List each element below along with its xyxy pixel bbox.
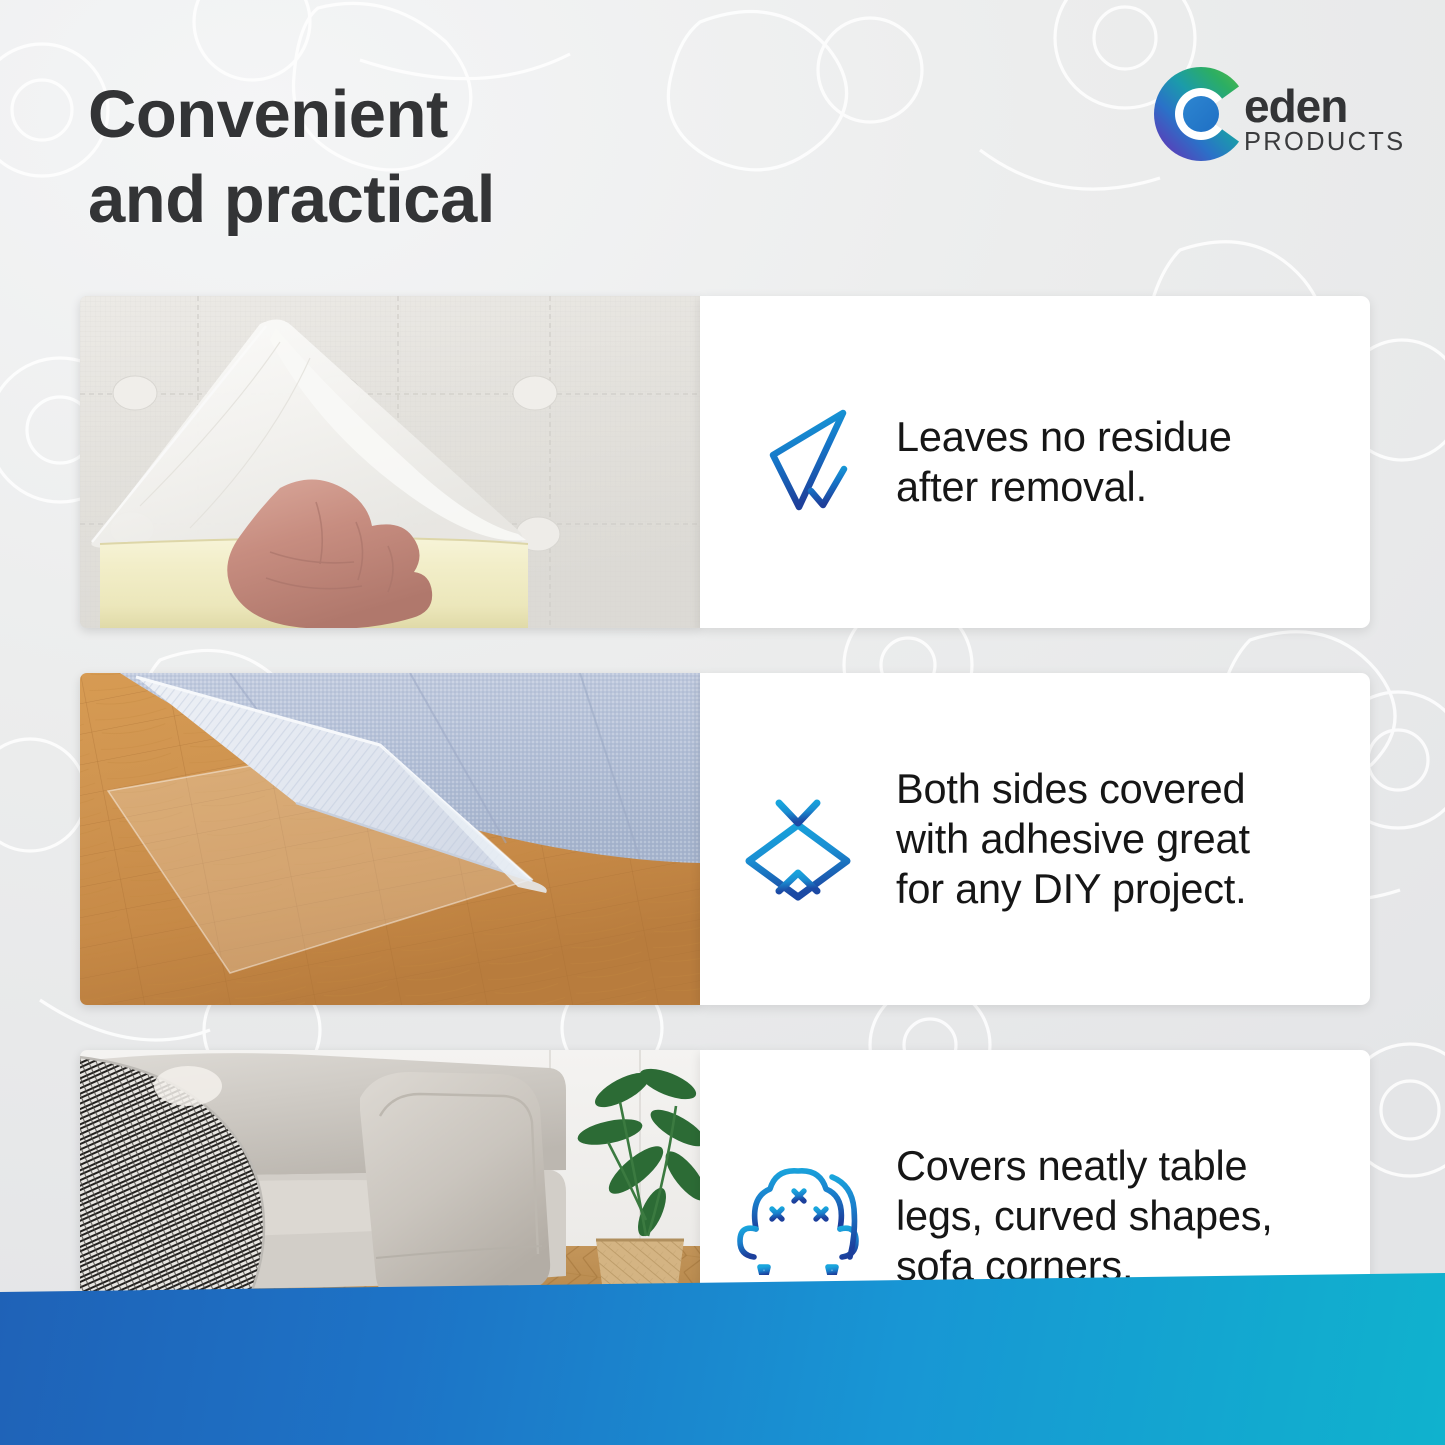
page-title: Convenient and practical	[88, 72, 788, 242]
logo-subtitle: PRODUCTS	[1244, 130, 1406, 156]
logo-name: eden	[1244, 85, 1406, 127]
feature-row-1: Leaves no residue after removal.	[80, 296, 1370, 628]
infographic-canvas: Convenient and practical	[0, 0, 1445, 1445]
feature-card-1: Leaves no residue after removal.	[700, 296, 1370, 628]
feature-text-2-line-3: for any DIY project.	[896, 864, 1250, 914]
peel-corner-check-icon	[700, 296, 896, 628]
feature-text-2-line-2: with adhesive great	[896, 814, 1250, 864]
header: Convenient and practical	[0, 0, 1445, 290]
logo-wordmark: eden PRODUCTS	[1244, 85, 1406, 156]
feature-text-3-line-2: legs, curved shapes,	[896, 1191, 1273, 1241]
feature-photo-rug-on-floor	[80, 673, 700, 1005]
double-sided-adhesive-arrows-icon	[700, 673, 896, 1005]
page-title-line-2: and practical	[88, 157, 788, 242]
feature-text-3: Covers neatly table legs, curved shapes,…	[896, 1141, 1295, 1291]
feature-text-1-line-2: after removal.	[896, 462, 1232, 512]
feature-text-1: Leaves no residue after removal.	[896, 412, 1254, 512]
feature-row-2: Both sides covered with adhesive great f…	[80, 673, 1370, 1005]
brand-logo: eden PRODUCTS	[1150, 63, 1365, 173]
feature-text-2: Both sides covered with adhesive great f…	[896, 764, 1272, 914]
eden-c-mark-icon	[1150, 63, 1252, 165]
feature-text-1-line-1: Leaves no residue	[896, 412, 1232, 462]
feature-text-2-line-1: Both sides covered	[896, 764, 1250, 814]
page-title-line-1: Convenient	[88, 77, 448, 152]
feature-card-2: Both sides covered with adhesive great f…	[700, 673, 1370, 1005]
feature-text-3-line-1: Covers neatly table	[896, 1141, 1273, 1191]
bottom-accent-band	[0, 1273, 1445, 1445]
feature-photo-peeling-film	[80, 296, 700, 628]
